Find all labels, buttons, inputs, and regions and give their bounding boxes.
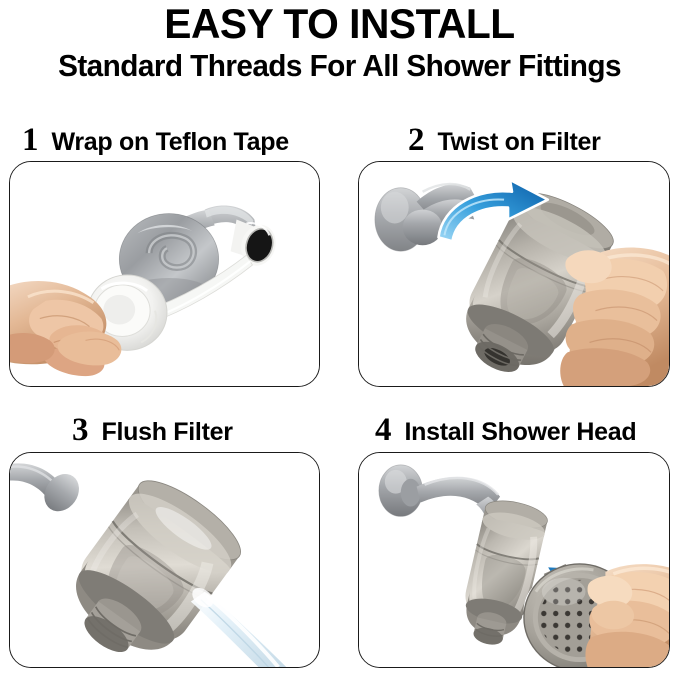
step-2-photo — [358, 161, 670, 387]
step-1-number: 1 — [22, 124, 39, 157]
step-3-number: 3 — [72, 414, 89, 447]
step-2-number: 2 — [408, 124, 425, 157]
step-3-caption: 3 Flush Filter — [72, 414, 233, 447]
step-4-caption: 4 Install Shower Head — [375, 414, 636, 447]
step-1-label: Wrap on Teflon Tape — [52, 129, 289, 156]
hand — [560, 248, 669, 386]
step-1-caption: 1 Wrap on Teflon Tape — [22, 124, 289, 157]
step-1-photo — [9, 161, 320, 387]
step-4-label: Install Shower Head — [405, 419, 637, 446]
step-2-caption: 2 Twist on Filter — [408, 124, 601, 157]
page-title: EASY TO INSTALL — [10, 0, 669, 46]
page-subtitle: Standard Threads For All Shower Fittings — [14, 49, 666, 83]
step-3-label: Flush Filter — [102, 419, 233, 446]
wall-flange — [379, 465, 423, 517]
step-3-photo — [9, 452, 320, 668]
infographic-root: EASY TO INSTALL Standard Threads For All… — [0, 0, 679, 677]
step-2-label: Twist on Filter — [438, 129, 601, 156]
step-4-number: 4 — [375, 414, 392, 447]
hand — [585, 564, 669, 667]
step-4-photo — [358, 452, 670, 668]
header: EASY TO INSTALL Standard Threads For All… — [0, 0, 679, 83]
